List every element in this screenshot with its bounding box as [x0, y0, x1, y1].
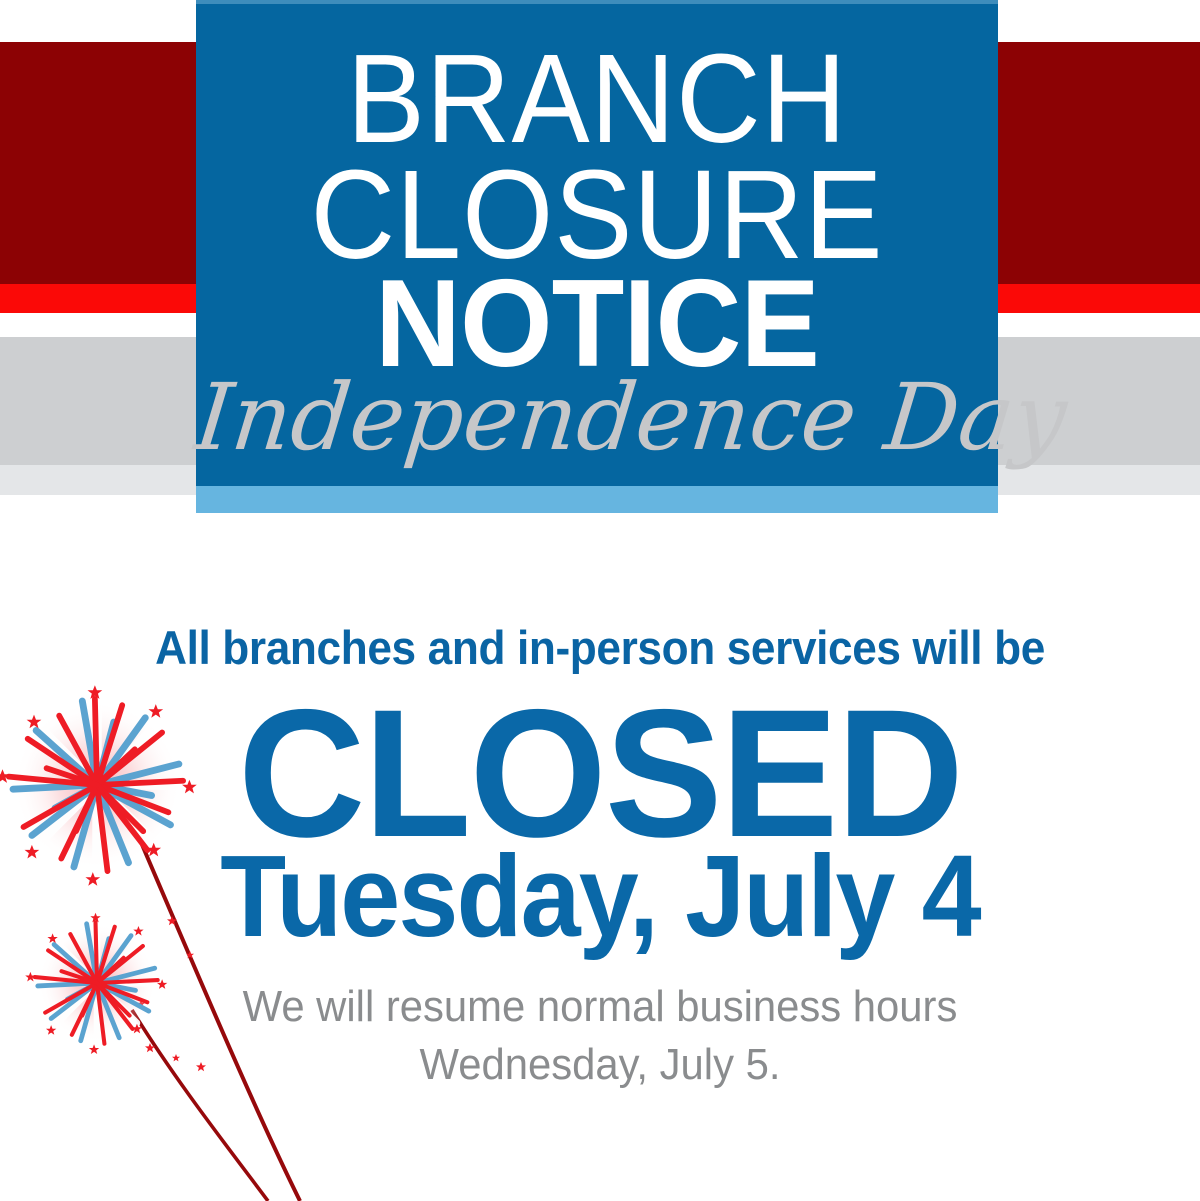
message-intro: All branches and in-person services will…	[36, 620, 1164, 675]
message-date: Tuesday, July 4	[42, 838, 1158, 954]
header-script-subtitle: Independence Day	[191, 372, 1031, 464]
header-panel-top-accent	[196, 0, 998, 4]
message-resume-line-2: Wednesday, July 5.	[30, 1036, 1170, 1094]
message-resume-line-1: We will resume normal business hours	[30, 978, 1170, 1036]
branch-closure-notice-poster: BRANCH CLOSURE NOTICE Independence Day	[0, 0, 1200, 1201]
message-resume: We will resume normal business hours Wed…	[30, 978, 1170, 1094]
header-panel-bottom-band	[196, 486, 998, 513]
